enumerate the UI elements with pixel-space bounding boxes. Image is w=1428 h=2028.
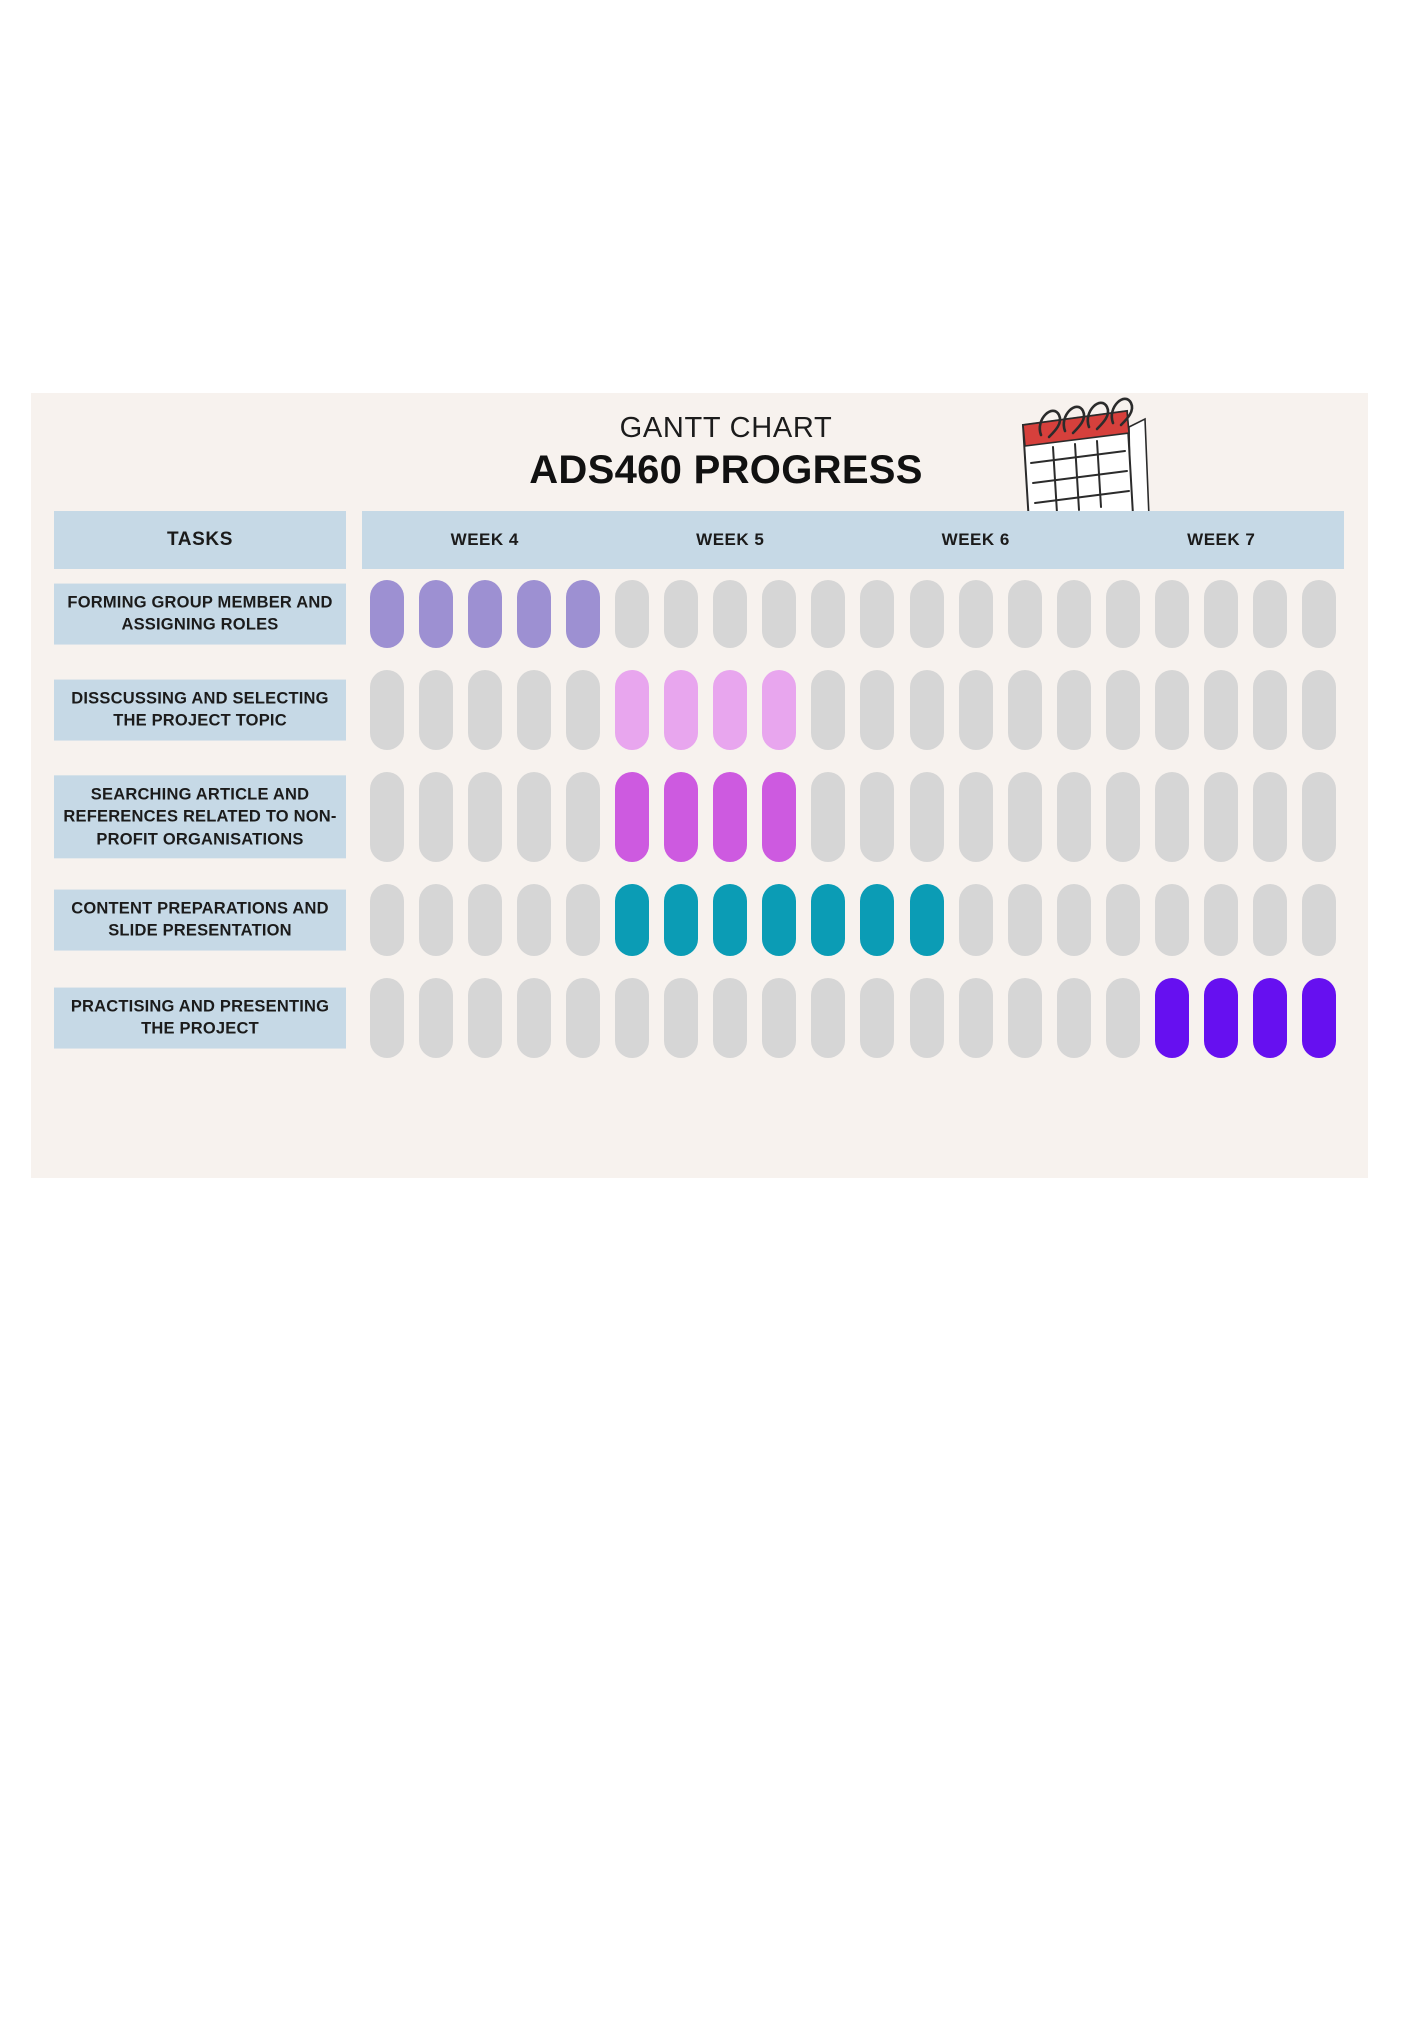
timeline-cell[interactable]	[804, 670, 853, 750]
task-bar-empty[interactable]	[517, 670, 551, 750]
task-bar-empty[interactable]	[811, 772, 845, 862]
timeline-cell[interactable]	[755, 884, 804, 956]
task-bar-empty[interactable]	[517, 978, 551, 1058]
task-bar-empty[interactable]	[468, 772, 502, 862]
task-label-3: SEARCHING ARTICLE AND REFERENCES RELATED…	[54, 775, 346, 858]
timeline-cell[interactable]	[657, 884, 706, 956]
timeline-cell[interactable]	[1049, 978, 1098, 1058]
task-bar-empty[interactable]	[959, 772, 993, 862]
task-bar-filled[interactable]	[468, 580, 502, 648]
timeline-cell[interactable]	[657, 772, 706, 862]
timeline-cell[interactable]	[706, 978, 755, 1058]
task-bar-empty[interactable]	[1106, 670, 1140, 750]
timeline-cell[interactable]	[558, 670, 607, 750]
timeline-cell[interactable]	[902, 884, 951, 956]
timeline-cell[interactable]	[411, 772, 460, 862]
timeline-cell[interactable]	[706, 884, 755, 956]
timeline-cell[interactable]	[411, 978, 460, 1058]
timeline-cell[interactable]	[607, 670, 656, 750]
timeline-cell[interactable]	[607, 580, 656, 648]
table-row: PRACTISING AND PRESENTING THE PROJECT	[54, 973, 1344, 1063]
task-timeline-3	[362, 767, 1344, 867]
timeline-cell[interactable]	[1049, 670, 1098, 750]
timeline-cell[interactable]	[1000, 670, 1049, 750]
timeline-cell[interactable]	[657, 670, 706, 750]
task-bar-empty[interactable]	[1204, 884, 1238, 956]
task-bar-empty[interactable]	[615, 978, 649, 1058]
week-header-2: WEEK 5	[608, 511, 854, 569]
task-bar-empty[interactable]	[370, 772, 404, 862]
task-bar-empty[interactable]	[910, 580, 944, 648]
weeks-header: WEEK 4WEEK 5WEEK 6WEEK 7	[362, 511, 1344, 569]
timeline-cell[interactable]	[1148, 978, 1197, 1058]
timeline-cell[interactable]	[1197, 978, 1246, 1058]
page-title: ADS460 PROGRESS	[461, 447, 991, 494]
task-bar-filled[interactable]	[517, 580, 551, 648]
task-bar-empty[interactable]	[370, 884, 404, 956]
task-bar-empty[interactable]	[1057, 978, 1091, 1058]
task-bar-empty[interactable]	[1302, 772, 1336, 862]
task-label-5: PRACTISING AND PRESENTING THE PROJECT	[54, 988, 346, 1049]
timeline-cell[interactable]	[411, 580, 460, 648]
task-bar-filled[interactable]	[860, 884, 894, 956]
timeline-cell[interactable]	[362, 772, 411, 862]
task-bar-empty[interactable]	[1106, 580, 1140, 648]
timeline-cell[interactable]	[951, 772, 1000, 862]
task-bar-empty[interactable]	[664, 580, 698, 648]
timeline-cell[interactable]	[1295, 772, 1344, 862]
task-bar-filled[interactable]	[910, 884, 944, 956]
timeline-cell[interactable]	[362, 978, 411, 1058]
task-bar-filled[interactable]	[370, 580, 404, 648]
task-bar-empty[interactable]	[1155, 772, 1189, 862]
task-bar-filled[interactable]	[615, 884, 649, 956]
task-bar-empty[interactable]	[762, 978, 796, 1058]
timeline-cell[interactable]	[902, 772, 951, 862]
timeline-cell[interactable]	[509, 670, 558, 750]
timeline-cell[interactable]	[853, 884, 902, 956]
task-bar-empty[interactable]	[1155, 670, 1189, 750]
timeline-cell[interactable]	[558, 772, 607, 862]
task-bar-empty[interactable]	[370, 978, 404, 1058]
task-bar-filled[interactable]	[1155, 978, 1189, 1058]
timeline-cell[interactable]	[951, 978, 1000, 1058]
task-bar-empty[interactable]	[959, 580, 993, 648]
timeline-cell[interactable]	[1098, 670, 1147, 750]
table-row: CONTENT PREPARATIONS AND SLIDE PRESENTAT…	[54, 879, 1344, 961]
week-header-3: WEEK 6	[853, 511, 1099, 569]
timeline-cell[interactable]	[1000, 772, 1049, 862]
tasks-header-label: TASKS	[167, 529, 233, 551]
timeline-cell[interactable]	[607, 978, 656, 1058]
timeline-cell[interactable]	[362, 580, 411, 648]
task-bar-filled[interactable]	[566, 580, 600, 648]
task-bar-empty[interactable]	[713, 580, 747, 648]
task-bar-empty[interactable]	[1057, 772, 1091, 862]
timeline-cell[interactable]	[1295, 978, 1344, 1058]
task-bar-empty[interactable]	[566, 772, 600, 862]
timeline-cell[interactable]	[411, 670, 460, 750]
task-bar-empty[interactable]	[1008, 772, 1042, 862]
task-bar-empty[interactable]	[860, 580, 894, 648]
task-bar-filled[interactable]	[1204, 978, 1238, 1058]
table-header-row: TASKS WEEK 4WEEK 5WEEK 6WEEK 7	[54, 511, 1344, 569]
timeline-cell[interactable]	[1246, 884, 1295, 956]
timeline-cell[interactable]	[460, 670, 509, 750]
task-bar-empty[interactable]	[910, 978, 944, 1058]
task-bar-filled[interactable]	[664, 884, 698, 956]
task-bar-filled[interactable]	[811, 884, 845, 956]
task-bar-empty[interactable]	[1253, 580, 1287, 648]
timeline-cell[interactable]	[853, 772, 902, 862]
task-bar-empty[interactable]	[1155, 580, 1189, 648]
task-bar-empty[interactable]	[1008, 580, 1042, 648]
gantt-chart-card: GANTT CHART ADS460 PROGRESS	[31, 393, 1368, 1178]
task-bar-empty[interactable]	[566, 978, 600, 1058]
timeline-cell[interactable]	[853, 580, 902, 648]
tasks-column-header: TASKS	[54, 511, 346, 569]
week-header-4: WEEK 7	[1099, 511, 1345, 569]
table-row: DISSCUSSING AND SELECTING THE PROJECT TO…	[54, 665, 1344, 755]
timeline-cell[interactable]	[706, 670, 755, 750]
timeline-cell[interactable]	[1246, 772, 1295, 862]
task-bar-empty[interactable]	[419, 978, 453, 1058]
task-bar-filled[interactable]	[1253, 978, 1287, 1058]
timeline-cell[interactable]	[460, 772, 509, 862]
timeline-cell[interactable]	[804, 884, 853, 956]
timeline-cell[interactable]	[951, 884, 1000, 956]
task-bar-empty[interactable]	[1302, 670, 1336, 750]
timeline-cell[interactable]	[853, 670, 902, 750]
timeline-cell[interactable]	[1000, 978, 1049, 1058]
task-bar-empty[interactable]	[1008, 670, 1042, 750]
task-bar-empty[interactable]	[1204, 772, 1238, 862]
task-bar-empty[interactable]	[468, 978, 502, 1058]
task-bar-empty[interactable]	[811, 670, 845, 750]
timeline-cell[interactable]	[853, 978, 902, 1058]
task-bar-empty[interactable]	[566, 884, 600, 956]
timeline-cell[interactable]	[1000, 884, 1049, 956]
task-bar-empty[interactable]	[1253, 670, 1287, 750]
timeline-cell[interactable]	[1246, 978, 1295, 1058]
task-bar-filled[interactable]	[713, 670, 747, 750]
timeline-cell[interactable]	[951, 580, 1000, 648]
timeline-cell[interactable]	[1148, 772, 1197, 862]
timeline-cell[interactable]	[804, 978, 853, 1058]
timeline-cell[interactable]	[607, 884, 656, 956]
task-bar-filled[interactable]	[664, 772, 698, 862]
timeline-cell[interactable]	[1148, 670, 1197, 750]
timeline-cell[interactable]	[657, 580, 706, 648]
timeline-cell[interactable]	[1197, 580, 1246, 648]
timeline-cell[interactable]	[1098, 978, 1147, 1058]
timeline-cell[interactable]	[558, 580, 607, 648]
task-bar-empty[interactable]	[1204, 580, 1238, 648]
timeline-cell[interactable]	[1295, 884, 1344, 956]
timeline-cell[interactable]	[1049, 580, 1098, 648]
task-bar-empty[interactable]	[419, 670, 453, 750]
task-bar-filled[interactable]	[713, 772, 747, 862]
timeline-cell[interactable]	[362, 884, 411, 956]
task-label-4: CONTENT PREPARATIONS AND SLIDE PRESENTAT…	[54, 890, 346, 951]
task-bar-empty[interactable]	[1106, 772, 1140, 862]
task-bar-empty[interactable]	[566, 670, 600, 750]
timeline-cell[interactable]	[706, 580, 755, 648]
task-bar-empty[interactable]	[1106, 978, 1140, 1058]
timeline-cell[interactable]	[1197, 772, 1246, 862]
task-bar-empty[interactable]	[468, 670, 502, 750]
task-bar-empty[interactable]	[713, 978, 747, 1058]
task-timeline-5	[362, 973, 1344, 1063]
timeline-cell[interactable]	[755, 670, 804, 750]
task-bar-empty[interactable]	[1057, 670, 1091, 750]
task-bar-empty[interactable]	[419, 772, 453, 862]
timeline-cell[interactable]	[558, 884, 607, 956]
timeline-cell[interactable]	[902, 670, 951, 750]
task-bar-filled[interactable]	[762, 670, 796, 750]
timeline-cell[interactable]	[509, 884, 558, 956]
task-bar-empty[interactable]	[664, 978, 698, 1058]
task-bar-empty[interactable]	[1253, 884, 1287, 956]
task-bar-empty[interactable]	[517, 772, 551, 862]
timeline-cell[interactable]	[1098, 580, 1147, 648]
task-bar-empty[interactable]	[811, 978, 845, 1058]
task-bar-empty[interactable]	[1253, 772, 1287, 862]
task-bar-empty[interactable]	[1057, 884, 1091, 956]
timeline-cell[interactable]	[1098, 884, 1147, 956]
task-bar-empty[interactable]	[517, 884, 551, 956]
timeline-cell[interactable]	[1098, 772, 1147, 862]
task-bar-filled[interactable]	[664, 670, 698, 750]
task-timeline-4	[362, 879, 1344, 961]
task-bar-empty[interactable]	[860, 670, 894, 750]
timeline-cell[interactable]	[460, 580, 509, 648]
timeline-cell[interactable]	[558, 978, 607, 1058]
timeline-cell[interactable]	[1148, 580, 1197, 648]
task-bar-empty[interactable]	[1008, 884, 1042, 956]
table-row: FORMING GROUP MEMBER AND ASSIGNING ROLES	[54, 575, 1344, 653]
task-bar-empty[interactable]	[1204, 670, 1238, 750]
task-bar-empty[interactable]	[1008, 978, 1042, 1058]
task-bar-filled[interactable]	[615, 670, 649, 750]
task-bar-empty[interactable]	[468, 884, 502, 956]
task-bar-empty[interactable]	[419, 884, 453, 956]
timeline-cell[interactable]	[1295, 580, 1344, 648]
task-bar-filled[interactable]	[615, 772, 649, 862]
timeline-cell[interactable]	[460, 884, 509, 956]
chart-kicker: GANTT CHART	[461, 411, 991, 445]
task-bar-empty[interactable]	[1057, 580, 1091, 648]
task-bar-empty[interactable]	[762, 580, 796, 648]
task-timeline-2	[362, 665, 1344, 755]
task-bar-filled[interactable]	[762, 772, 796, 862]
timeline-cell[interactable]	[951, 670, 1000, 750]
timeline-cell[interactable]	[657, 978, 706, 1058]
task-bar-empty[interactable]	[860, 772, 894, 862]
timeline-cell[interactable]	[460, 978, 509, 1058]
timeline-cell[interactable]	[1148, 884, 1197, 956]
timeline-cell[interactable]	[1246, 580, 1295, 648]
timeline-cell[interactable]	[755, 772, 804, 862]
timeline-cell[interactable]	[1246, 670, 1295, 750]
task-bar-filled[interactable]	[1302, 978, 1336, 1058]
timeline-cell[interactable]	[1049, 884, 1098, 956]
timeline-cell[interactable]	[1049, 772, 1098, 862]
timeline-cell[interactable]	[804, 580, 853, 648]
task-label-2: DISSCUSSING AND SELECTING THE PROJECT TO…	[54, 680, 346, 741]
task-bar-empty[interactable]	[1155, 884, 1189, 956]
task-bar-empty[interactable]	[959, 884, 993, 956]
timeline-cell[interactable]	[902, 978, 951, 1058]
task-bar-empty[interactable]	[910, 670, 944, 750]
task-bar-empty[interactable]	[1302, 580, 1336, 648]
timeline-cell[interactable]	[804, 772, 853, 862]
timeline-cell[interactable]	[1197, 670, 1246, 750]
task-bar-filled[interactable]	[419, 580, 453, 648]
timeline-cell[interactable]	[509, 580, 558, 648]
task-bar-empty[interactable]	[910, 772, 944, 862]
timeline-cell[interactable]	[755, 580, 804, 648]
task-bar-empty[interactable]	[860, 978, 894, 1058]
timeline-cell[interactable]	[607, 772, 656, 862]
week-header-1: WEEK 4	[362, 511, 608, 569]
task-label-1: FORMING GROUP MEMBER AND ASSIGNING ROLES	[54, 584, 346, 645]
timeline-cell[interactable]	[1197, 884, 1246, 956]
timeline-cell[interactable]	[706, 772, 755, 862]
timeline-cell[interactable]	[1295, 670, 1344, 750]
timeline-cell[interactable]	[1000, 580, 1049, 648]
task-bar-filled[interactable]	[762, 884, 796, 956]
task-bar-empty[interactable]	[1302, 884, 1336, 956]
timeline-cell[interactable]	[362, 670, 411, 750]
task-bar-empty[interactable]	[811, 580, 845, 648]
task-bar-filled[interactable]	[713, 884, 747, 956]
task-bar-empty[interactable]	[615, 580, 649, 648]
timeline-cell[interactable]	[509, 978, 558, 1058]
timeline-cell[interactable]	[902, 580, 951, 648]
timeline-cell[interactable]	[411, 884, 460, 956]
table-row: SEARCHING ARTICLE AND REFERENCES RELATED…	[54, 767, 1344, 867]
timeline-cell[interactable]	[755, 978, 804, 1058]
timeline-cell[interactable]	[509, 772, 558, 862]
task-bar-empty[interactable]	[959, 670, 993, 750]
task-bar-empty[interactable]	[370, 670, 404, 750]
task-timeline-1	[362, 575, 1344, 653]
task-bar-empty[interactable]	[1106, 884, 1140, 956]
task-bar-empty[interactable]	[959, 978, 993, 1058]
gantt-rows: FORMING GROUP MEMBER AND ASSIGNING ROLES…	[54, 575, 1344, 1075]
chart-title-block: GANTT CHART ADS460 PROGRESS	[461, 411, 991, 494]
